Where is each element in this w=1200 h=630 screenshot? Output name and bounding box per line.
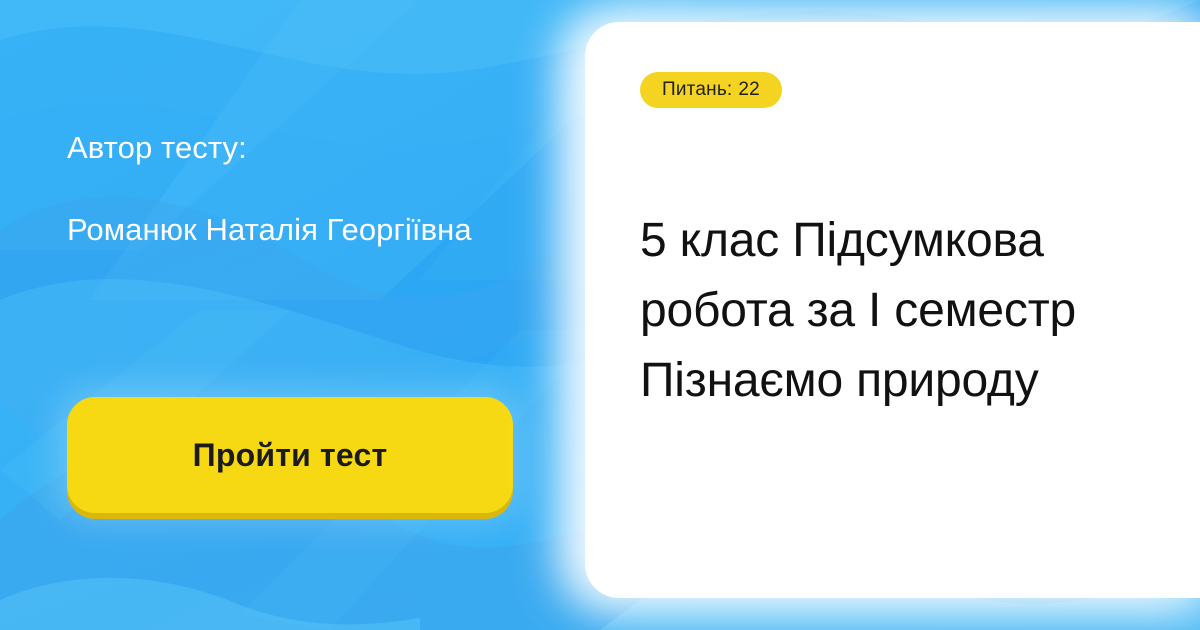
share-card-canvas: Автор тесту: Романюк Наталія Георгіївна … — [0, 0, 1200, 630]
test-info-card: Питань: 22 5 клас Підсумкова робота за I… — [585, 22, 1200, 598]
test-title: 5 клас Підсумкова робота за I семестр Пі… — [640, 206, 1180, 416]
author-label: Автор тесту: — [67, 128, 247, 168]
question-count-label: Питань: — [662, 79, 732, 101]
cta-button-wrapper: Пройти тест — [67, 397, 513, 519]
left-info-panel: Автор тесту: Романюк Наталія Георгіївна … — [0, 0, 585, 630]
question-count-badge: Питань: 22 — [640, 72, 782, 108]
question-count-value: 22 — [738, 79, 760, 101]
take-test-button[interactable]: Пройти тест — [67, 397, 513, 513]
author-name: Романюк Наталія Георгіївна — [67, 208, 487, 251]
